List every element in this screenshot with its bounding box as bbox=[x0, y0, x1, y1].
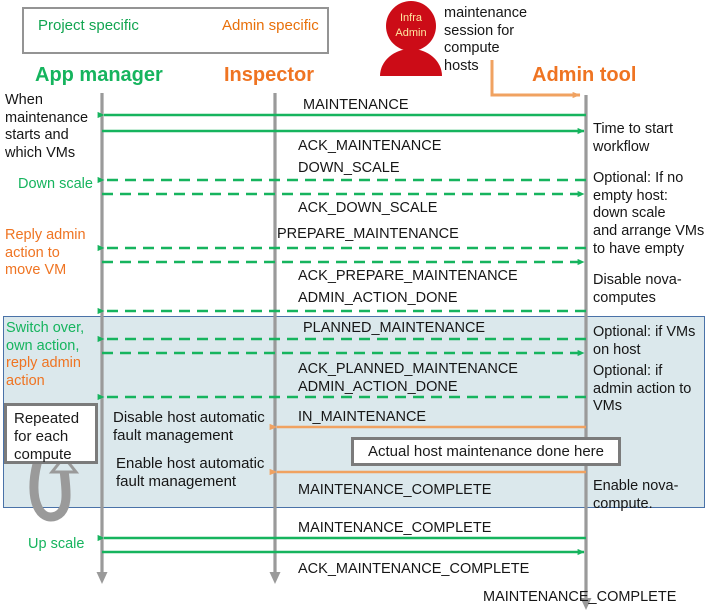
left-note-up-scale: Up scale bbox=[28, 536, 84, 554]
side-note-disable-nova-computes: Disable nova- computes bbox=[593, 272, 682, 307]
side-note-time-to-start-workflow: Time to start workflow bbox=[593, 121, 673, 156]
repeated-for-each-compute-callout: Repeated for each compute bbox=[4, 403, 98, 464]
message-planned-maintenance: PLANNED_MAINTENANCE bbox=[303, 320, 485, 336]
left-note-reply-admin-action: Reply admin action to move VM bbox=[5, 227, 86, 280]
message-down-scale: DOWN_SCALE bbox=[298, 160, 400, 176]
message-ack-maintenance: ACK_MAINTENANCE bbox=[298, 138, 441, 154]
side-note-optional-no-empty-host: Optional: If no empty host: down scale a… bbox=[593, 170, 704, 258]
message-admin-action-done-1: ADMIN_ACTION_DONE bbox=[298, 290, 458, 306]
actor-label-admin-tool[interactable]: Admin tool bbox=[532, 64, 636, 87]
left-note-reply-admin-action-2: reply admin action bbox=[6, 355, 81, 390]
actor-label-app-manager[interactable]: App manager bbox=[35, 64, 163, 87]
avatar-body bbox=[380, 49, 442, 76]
message-ack-prepare-maintenance: ACK_PREPARE_MAINTENANCE bbox=[298, 268, 518, 284]
legend-label-admin-specific: Admin specific bbox=[222, 17, 319, 34]
message-maintenance: MAINTENANCE bbox=[303, 97, 409, 113]
side-note-optional-admin-action: Optional: if admin action to VMs bbox=[593, 363, 691, 416]
actual-host-maintenance-callout: Actual host maintenance done here bbox=[351, 437, 621, 466]
sequence-diagram: Project specific Admin specific App mana… bbox=[0, 0, 710, 613]
message-ack-maintenance-complete: ACK_MAINTENANCE_COMPLETE bbox=[298, 561, 529, 577]
lifeline-end-inspector bbox=[270, 572, 281, 584]
message-ack-planned-maintenance: ACK_PLANNED_MAINTENANCE bbox=[298, 361, 518, 377]
left-note-down-scale: Down scale bbox=[18, 176, 93, 194]
left-note-when-maintenance: When maintenance starts and which VMs bbox=[5, 92, 88, 163]
message-ack-down-scale: ACK_DOWN_SCALE bbox=[298, 200, 437, 216]
avatar-label-line2: Admin bbox=[384, 27, 438, 39]
message-maintenance-complete-2: MAINTENANCE_COMPLETE bbox=[298, 520, 491, 536]
actor-label-inspector[interactable]: Inspector bbox=[224, 64, 314, 87]
message-maintenance-complete-1: MAINTENANCE_COMPLETE bbox=[298, 482, 491, 498]
inspector-note-disable-fault-management: Disable host automatic fault management bbox=[113, 409, 265, 445]
left-note-switch-over: Switch over, own action, bbox=[6, 320, 84, 355]
lifeline-end-app-manager bbox=[97, 572, 108, 584]
side-note-optional-vms-on-host: Optional: if VMs on host bbox=[593, 324, 695, 359]
inspector-note-enable-fault-management: Enable host automatic fault management bbox=[116, 455, 264, 491]
legend-label-project-specific: Project specific bbox=[38, 17, 139, 34]
avatar-label-line1: Infra bbox=[384, 12, 438, 24]
avatar-head bbox=[386, 1, 436, 51]
side-note-enable-nova-compute: Enable nova- compute. bbox=[593, 478, 678, 513]
avatar-session-note: maintenance session for compute hosts bbox=[444, 5, 527, 76]
message-admin-action-done-2: ADMIN_ACTION_DONE bbox=[298, 379, 458, 395]
message-maintenance-complete-3: MAINTENANCE_COMPLETE bbox=[483, 589, 676, 605]
message-in-maintenance: IN_MAINTENANCE bbox=[298, 409, 426, 425]
message-prepare-maintenance: PREPARE_MAINTENANCE bbox=[277, 226, 459, 242]
